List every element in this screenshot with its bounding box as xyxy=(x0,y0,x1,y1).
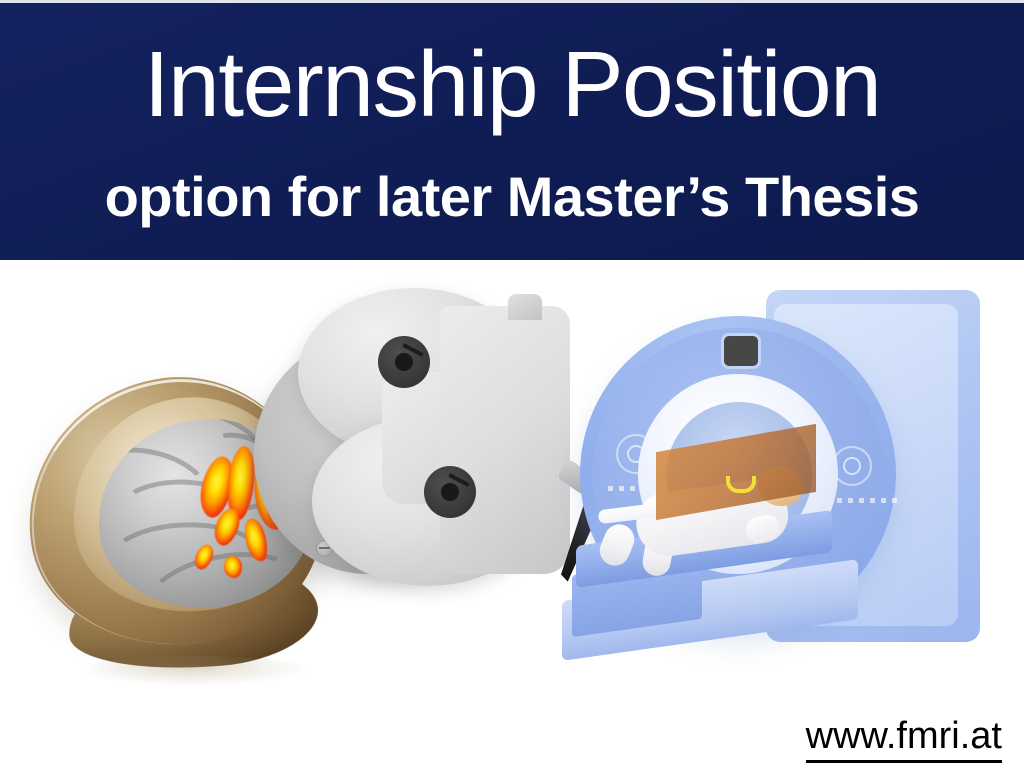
coil-housing xyxy=(440,306,570,574)
scanner-indicator-lights-right xyxy=(826,498,900,503)
page-subtitle: option for later Master’s Thesis xyxy=(0,168,1024,227)
tms-coil xyxy=(238,278,588,608)
floor-reflection xyxy=(80,656,310,686)
header-banner: Internship Position option for later Mas… xyxy=(0,3,1024,260)
illustration-area xyxy=(0,260,1024,775)
mri-scanner-illustration xyxy=(560,280,1020,710)
coil-notch xyxy=(508,294,542,320)
page-title: Internship Position xyxy=(0,36,1024,134)
coil-hub-top xyxy=(378,336,430,388)
brain-tms-illustration xyxy=(10,270,600,690)
website-url-link[interactable]: www.fmri.at xyxy=(806,716,1002,763)
poster-canvas: Internship Position option for later Mas… xyxy=(0,0,1024,775)
scanner-control-dial-right-icon xyxy=(832,446,872,486)
coil-hub-bottom xyxy=(424,466,476,518)
scanner-display-panel xyxy=(724,336,758,366)
coil-front-assembly xyxy=(290,288,558,588)
